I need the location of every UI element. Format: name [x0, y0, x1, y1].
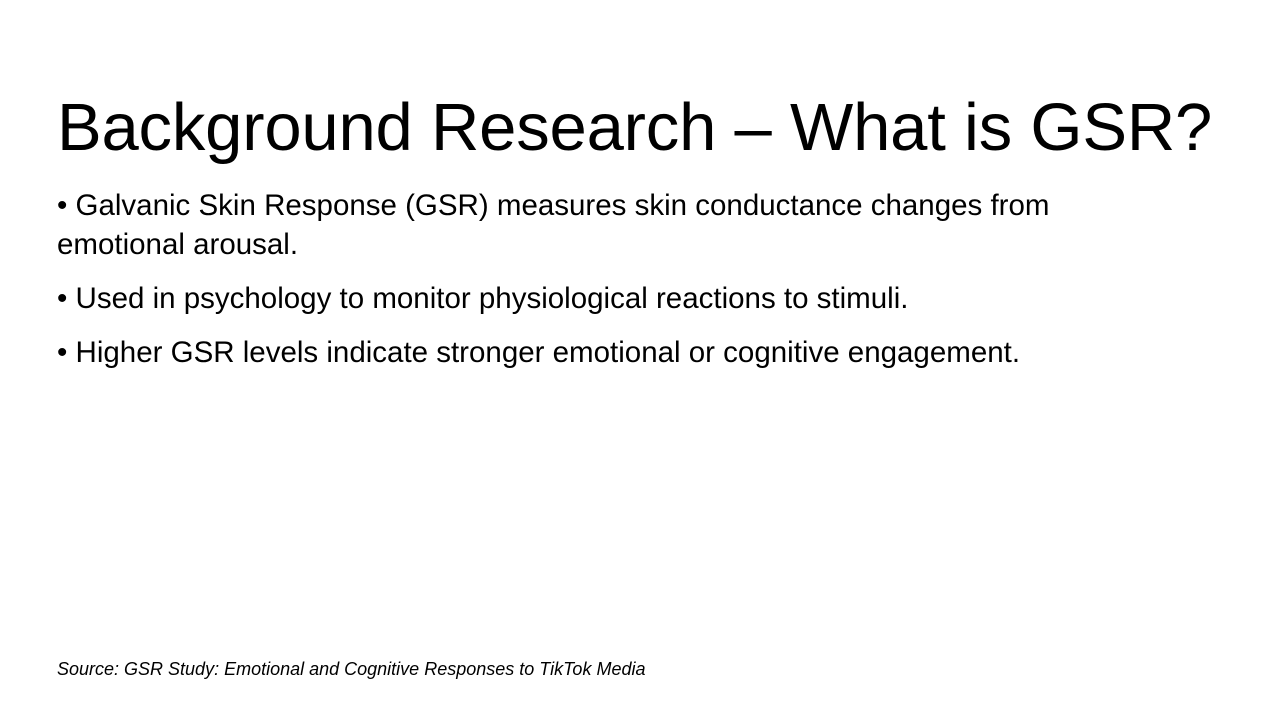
- list-item: • Galvanic Skin Response (GSR) measures …: [57, 186, 1169, 264]
- bullet-list: • Galvanic Skin Response (GSR) measures …: [57, 186, 1169, 372]
- slide-canvas: Background Research – What is GSR? • Gal…: [0, 0, 1280, 720]
- list-item: • Used in psychology to monitor physiolo…: [57, 279, 1169, 318]
- page-title: Background Research – What is GSR?: [57, 93, 1227, 163]
- source-citation: Source: GSR Study: Emotional and Cogniti…: [57, 657, 645, 681]
- list-item: • Higher GSR levels indicate stronger em…: [57, 333, 1169, 372]
